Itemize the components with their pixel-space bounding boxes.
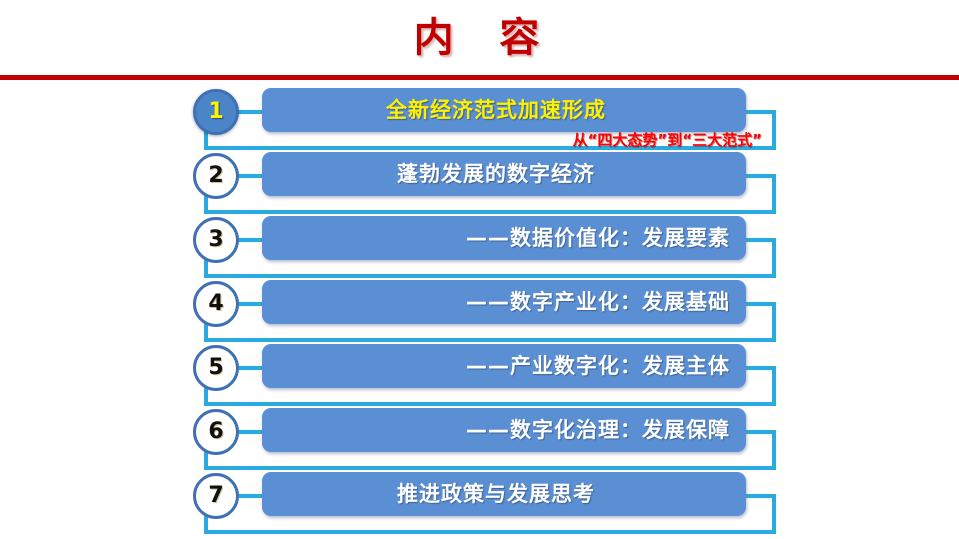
agenda-bar[interactable]: ——数据价值化：发展要素 — [262, 216, 746, 260]
title-divider-rule — [0, 75, 959, 80]
agenda-item-label: ——数据价值化：发展要素 — [262, 216, 730, 260]
connector-bottom — [204, 402, 776, 406]
agenda-number-badge[interactable]: 1 — [193, 89, 239, 135]
agenda-row[interactable]: 7推进政策与发展思考 — [0, 472, 959, 536]
connector-right — [772, 430, 776, 470]
connector-bottom — [204, 530, 776, 534]
agenda-bar[interactable]: 全新经济范式加速形成 — [262, 88, 746, 132]
agenda-row[interactable]: 2蓬勃发展的数字经济 — [0, 152, 959, 216]
connector-bottom — [204, 338, 776, 342]
connector-right — [772, 494, 776, 534]
agenda-bar[interactable]: 推进政策与发展思考 — [262, 472, 746, 516]
agenda-number-badge[interactable]: 6 — [193, 409, 239, 455]
agenda-item-label: 全新经济范式加速形成 — [262, 88, 730, 132]
connector-right — [772, 238, 776, 278]
connector-right — [772, 174, 776, 214]
agenda-number-badge[interactable]: 3 — [193, 217, 239, 263]
agenda-bar[interactable]: ——数字产业化：发展基础 — [262, 280, 746, 324]
agenda-row[interactable]: 1全新经济范式加速形成从“四大态势”到“三大范式” — [0, 88, 959, 152]
connector-right — [772, 110, 776, 150]
agenda-bar[interactable]: 蓬勃发展的数字经济 — [262, 152, 746, 196]
agenda-row[interactable]: 3——数据价值化：发展要素 — [0, 216, 959, 280]
agenda-item-label: ——数字化治理：发展保障 — [262, 408, 730, 452]
page-title: 内 容 — [0, 12, 959, 64]
connector-right — [772, 302, 776, 342]
connector-bottom — [204, 466, 776, 470]
agenda-number-badge[interactable]: 2 — [193, 153, 239, 199]
agenda-item-label: 蓬勃发展的数字经济 — [262, 152, 730, 196]
agenda-row[interactable]: 6——数字化治理：发展保障 — [0, 408, 959, 472]
agenda-number-badge[interactable]: 5 — [193, 345, 239, 391]
connector-bottom — [204, 274, 776, 278]
agenda-item-label: ——数字产业化：发展基础 — [262, 280, 730, 324]
agenda-number-badge[interactable]: 4 — [193, 281, 239, 327]
connector-bottom — [204, 210, 776, 214]
agenda-bar[interactable]: ——数字化治理：发展保障 — [262, 408, 746, 452]
connector-right — [772, 366, 776, 406]
agenda-item-label: ——产业数字化：发展主体 — [262, 344, 730, 388]
agenda-item-label: 推进政策与发展思考 — [262, 472, 730, 516]
agenda-sub-caption: 从“四大态势”到“三大范式” — [262, 129, 762, 150]
agenda-bar[interactable]: ——产业数字化：发展主体 — [262, 344, 746, 388]
agenda-number-badge[interactable]: 7 — [193, 473, 239, 519]
agenda-row[interactable]: 4——数字产业化：发展基础 — [0, 280, 959, 344]
agenda-row[interactable]: 5——产业数字化：发展主体 — [0, 344, 959, 408]
agenda-list: 1全新经济范式加速形成从“四大态势”到“三大范式”2蓬勃发展的数字经济3——数据… — [0, 88, 959, 539]
